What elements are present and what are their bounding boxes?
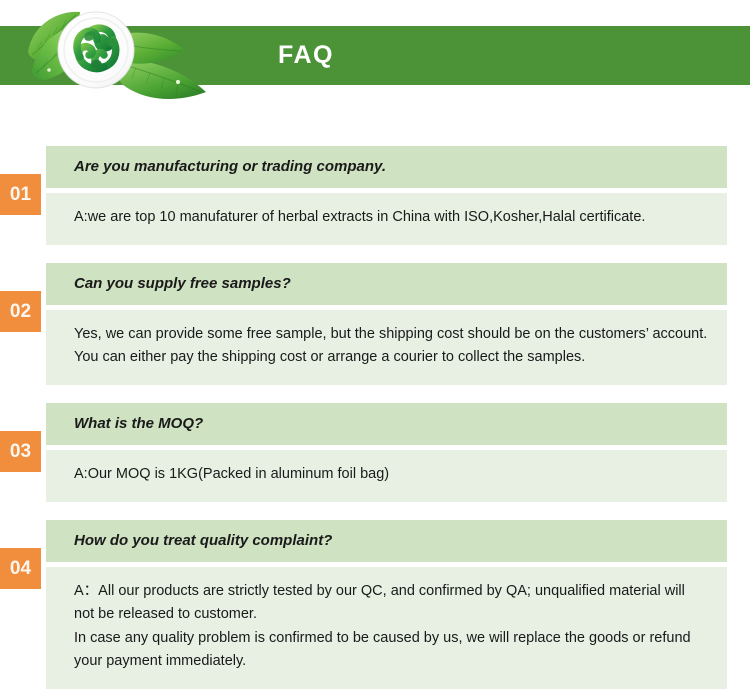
faq-item: 03 What is the MOQ? A:Our MOQ is 1KG(Pac… [0,403,750,502]
faq-answer-line: Yes, we can provide some free sample, bu… [74,323,709,370]
faq-question: How do you treat quality complaint? [46,520,727,562]
faq-item: 04 How do you treat quality complaint? A… [0,520,750,689]
faq-number-badge: 03 [0,431,41,472]
faq-answer: A:we are top 10 manufaturer of herbal ex… [46,193,727,244]
faq-answer-line: In case any quality problem is confirmed… [74,627,709,674]
faq-answer: Yes, we can provide some free sample, bu… [46,310,727,385]
faq-item: 01 Are you manufacturing or trading comp… [0,146,750,245]
faq-number-badge: 04 [0,548,41,589]
page-title: FAQ [236,26,376,85]
faq-answer-line: A:we are top 10 manufaturer of herbal ex… [74,206,709,229]
faq-answer: A:Our MOQ is 1KG(Packed in aluminum foil… [46,450,727,501]
faq-answer-line: A:Our MOQ is 1KG(Packed in aluminum foil… [74,463,709,486]
faq-answer-line: A：All our products are strictly tested b… [74,580,709,627]
faq-list: 01 Are you manufacturing or trading comp… [0,110,750,689]
leaf-logo-icon [18,0,218,110]
faq-number-badge: 02 [0,291,41,332]
faq-answer: A：All our products are strictly tested b… [46,567,727,689]
faq-question: Can you supply free samples? [46,263,727,305]
recycle-triangle-emblem [77,28,118,69]
page-header: FAQ [0,0,750,110]
faq-question: Are you manufacturing or trading company… [46,146,727,188]
faq-item: 02 Can you supply free samples? Yes, we … [0,263,750,385]
company-leaf-logo [18,0,218,110]
faq-number-badge: 01 [0,174,41,215]
faq-question: What is the MOQ? [46,403,727,445]
